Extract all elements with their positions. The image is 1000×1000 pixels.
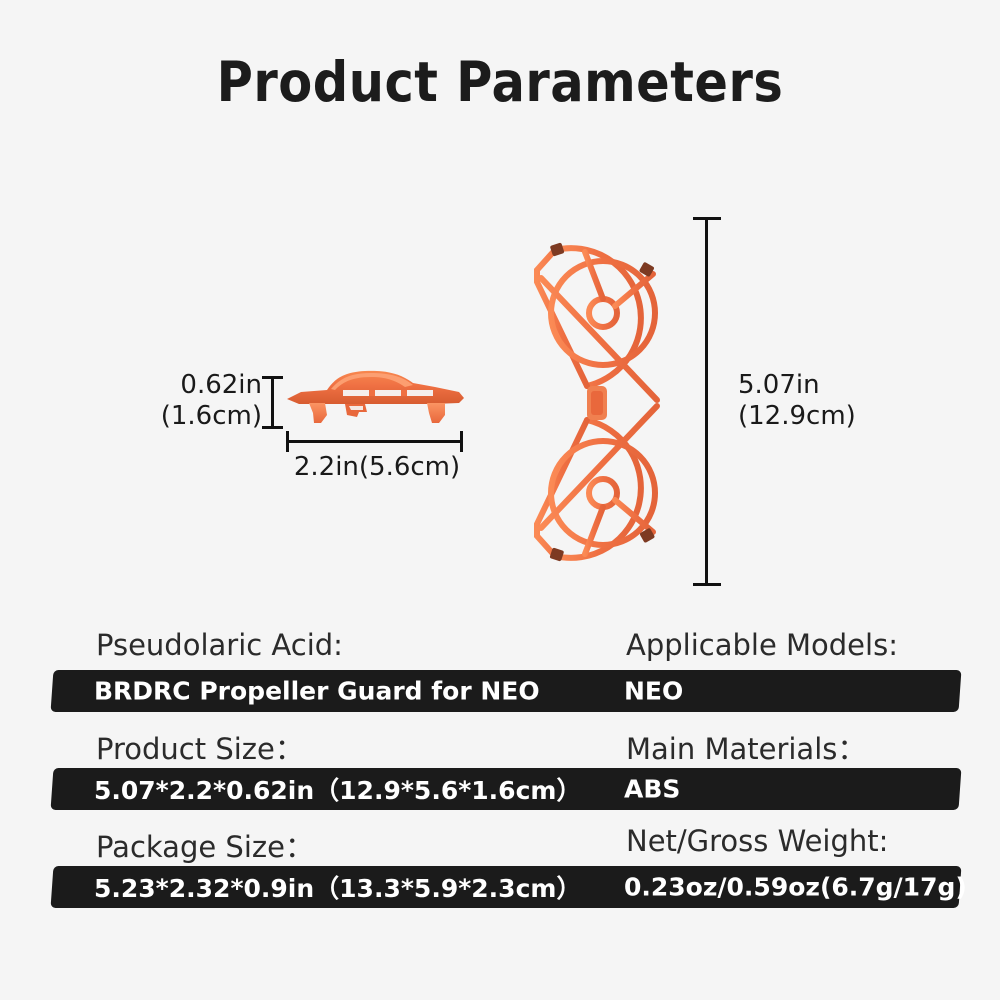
side-view-width-label: 2.2in(5.6cm) <box>292 452 462 483</box>
spec-value-product-size: 5.07*2.2*0.62in（12.9*5.6*1.6cm） <box>94 771 581 807</box>
spec-value-bar: 5.07*2.2*0.62in（12.9*5.6*1.6cm） ABS <box>51 768 962 810</box>
top-view-height-label: 5.07in (12.9cm) <box>738 370 918 431</box>
spec-value-bar: 5.23*2.32*0.9in（13.3*5.9*2.3cm） 0.23oz/0… <box>51 866 962 908</box>
spec-label-applicable-models: Applicable Models: <box>626 628 898 662</box>
top-view-height-bottom-tick <box>693 583 721 586</box>
spec-label-package-size: Package Size： <box>96 824 314 866</box>
side-view-height-dimension-line <box>271 377 274 428</box>
propeller-guard-top-view-image <box>525 208 695 598</box>
spec-label-group: Pseudolaric Acid: Applicable Models: <box>0 628 1000 670</box>
side-view-width-dimension-line <box>287 440 463 443</box>
propeller-guard-side-view-image <box>283 365 468 425</box>
side-view-height-bottom-tick <box>262 426 283 429</box>
page-title: Product Parameters <box>0 52 1000 113</box>
spec-value-product-name: BRDRC Propeller Guard for NEO <box>94 677 540 706</box>
spec-row: Product Size： Main Materials： 5.07*2.2*0… <box>0 726 1000 810</box>
spec-value-package-size: 5.23*2.32*0.9in（13.3*5.9*2.3cm） <box>94 869 581 905</box>
product-illustration-stage: 0.62in (1.6cm) <box>0 170 1000 620</box>
side-view-height-label: 0.62in (1.6cm) <box>152 370 262 431</box>
spec-label-group: Product Size： Main Materials： <box>0 726 1000 768</box>
spec-row: Pseudolaric Acid: Applicable Models: BRD… <box>0 628 1000 712</box>
spec-value-main-materials: ABS <box>624 775 680 804</box>
spec-label-group: Package Size： Net/Gross Weight: <box>0 824 1000 866</box>
spec-label-net-gross-weight: Net/Gross Weight: <box>626 824 888 858</box>
specifications-table: Pseudolaric Acid: Applicable Models: BRD… <box>0 628 1000 922</box>
side-view-height-cm: (1.6cm) <box>152 401 262 432</box>
side-view-width-right-tick <box>460 431 463 452</box>
spec-value-net-gross-weight: 0.23oz/0.59oz(6.7g/17g) <box>624 873 967 902</box>
top-view-height-cm: (12.9cm) <box>738 401 918 432</box>
spec-value-applicable-models: NEO <box>624 677 683 706</box>
spec-row: Package Size： Net/Gross Weight: 5.23*2.3… <box>0 824 1000 908</box>
side-view-width-left-tick <box>286 431 289 452</box>
spec-value-bar: BRDRC Propeller Guard for NEO NEO <box>51 670 962 712</box>
side-view-height-top-tick <box>262 376 283 379</box>
spec-label-main-materials: Main Materials： <box>626 726 866 768</box>
spec-label-product-name: Pseudolaric Acid: <box>96 628 343 662</box>
top-view-height-dimension-line <box>705 218 708 586</box>
top-view-height-inches: 5.07in <box>738 370 918 401</box>
side-view-height-inches: 0.62in <box>152 370 262 401</box>
spec-label-product-size: Product Size： <box>96 726 304 768</box>
top-view-height-top-tick <box>693 217 721 220</box>
